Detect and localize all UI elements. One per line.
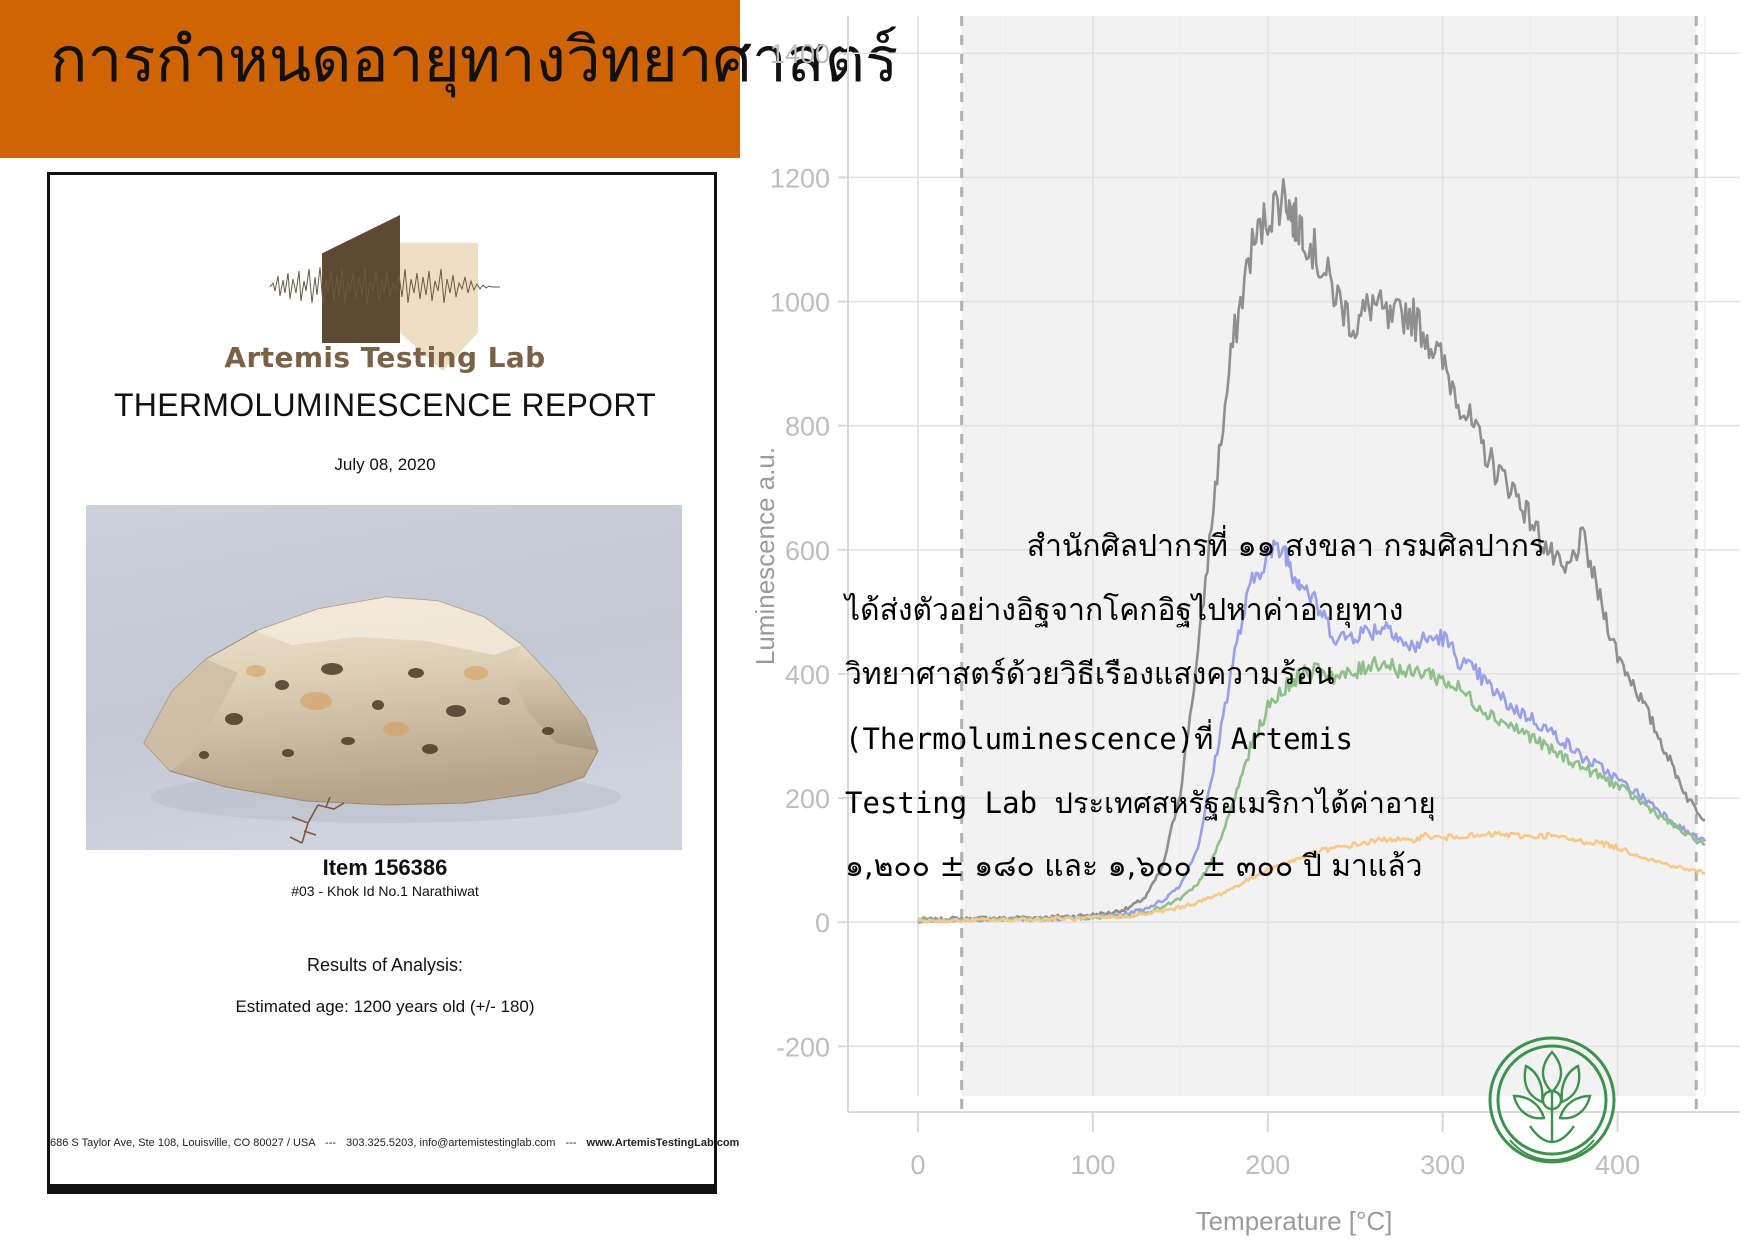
annotation-line-5: Testing Lab ประเทศสหรัฐอเมริกาได้ค่าอายุ bbox=[845, 771, 1545, 835]
logo-text: Artemis Testing Lab bbox=[50, 341, 720, 374]
report-title: THERMOLUMINESCENCE REPORT bbox=[50, 387, 720, 424]
y-tick-label: 0 bbox=[815, 908, 830, 938]
results-label: Results of Analysis: bbox=[50, 955, 720, 976]
annotation-line-1: สำนักศิลปากรที่ ๑๑ สงขลา กรมศิลปากร bbox=[845, 515, 1545, 579]
results-value: Estimated age: 1200 years old (+/- 180) bbox=[50, 997, 720, 1017]
y-tick-label: 1000 bbox=[770, 288, 830, 318]
y-tick-label: 400 bbox=[785, 660, 830, 690]
y-tick-label: 200 bbox=[785, 784, 830, 814]
footer-sep-1: --- bbox=[318, 1137, 343, 1149]
footer-website: www.ArtemisTestingLab.com bbox=[587, 1137, 740, 1149]
y-tick-label: 600 bbox=[785, 536, 830, 566]
footer-address: 686 S Taylor Ave, Ste 108, Louisville, C… bbox=[50, 1137, 315, 1149]
footer-sep-2: --- bbox=[558, 1137, 583, 1149]
x-tick-label: 200 bbox=[1245, 1150, 1290, 1180]
x-tick-label: 100 bbox=[1070, 1150, 1115, 1180]
y-tick-label: -200 bbox=[776, 1032, 830, 1062]
footer-contact: 303.325.5203, info@artemistestinglab.com bbox=[346, 1137, 555, 1149]
report-date: July 08, 2020 bbox=[50, 455, 720, 475]
header-banner: การกำหนดอายุทางวิทยาศาสตร์ bbox=[0, 0, 740, 158]
thermoluminescence-report-card: Artemis Testing Lab THERMOLUMINESCENCE R… bbox=[47, 172, 717, 1194]
annotation-line-6: ๑,๒๐๐ ± ๑๘๐ และ ๑,๖๐๐ ± ๓๐๐ ปี มาแล้ว bbox=[845, 835, 1545, 899]
thai-annotation-overlay: สำนักศิลปากรที่ ๑๑ สงขลา กรมศิลปากร ได้ส… bbox=[845, 515, 1545, 899]
y-tick-label: 1400 bbox=[770, 39, 830, 69]
y-tick-label: 800 bbox=[785, 412, 830, 442]
logo-waveform-icon bbox=[270, 263, 500, 311]
x-axis-title: Temperature [°C] bbox=[1196, 1206, 1393, 1236]
annotation-line-2: ได้ส่งตัวอย่างอิฐจากโคกอิฐไปหาค่าอายุทาง bbox=[845, 579, 1545, 643]
y-axis-title: Luminescence a.u. bbox=[750, 447, 780, 665]
footer-rule bbox=[50, 1184, 714, 1191]
report-footer: 686 S Taylor Ave, Ste 108, Louisville, C… bbox=[50, 1137, 720, 1149]
fine-arts-department-seal-icon bbox=[1452, 1000, 1652, 1200]
logo-mark bbox=[270, 213, 500, 343]
item-id: Item 156386 bbox=[50, 855, 720, 881]
specimen-photo-graphic bbox=[86, 505, 682, 850]
specimen-photo bbox=[86, 505, 682, 850]
annotation-line-3: วิทยาศาสตร์ด้วยวิธีเรืองแสงความร้อน bbox=[845, 643, 1545, 707]
annotation-line-4: (Thermoluminescence)ที่ Artemis bbox=[845, 707, 1545, 771]
item-subtitle: #03 - Khok Id No.1 Narathiwat bbox=[50, 883, 720, 899]
x-tick-label: 0 bbox=[910, 1150, 925, 1180]
y-tick-label: 1200 bbox=[770, 163, 830, 193]
lab-logo: Artemis Testing Lab bbox=[50, 213, 720, 383]
banner-title: การกำหนดอายุทางวิทยาศาสตร์ bbox=[50, 24, 730, 95]
